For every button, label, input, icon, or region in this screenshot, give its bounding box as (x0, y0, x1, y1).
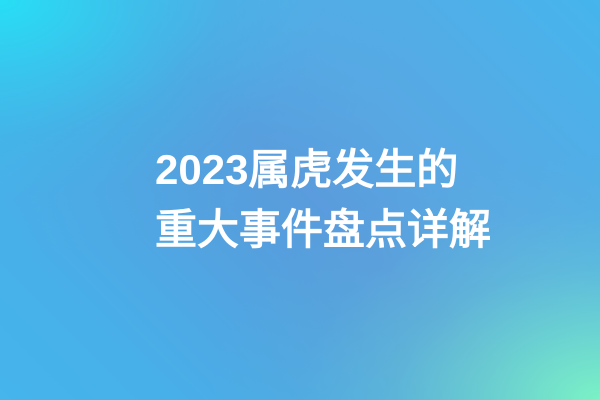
title-line-2: 重大事件盘点详解 (155, 200, 491, 260)
poster-title: 2023属虎发生的 重大事件盘点详解 (155, 0, 575, 400)
title-line-1: 2023属虎发生的 (155, 140, 458, 200)
poster-canvas: 2023属虎发生的 重大事件盘点详解 (0, 0, 600, 400)
